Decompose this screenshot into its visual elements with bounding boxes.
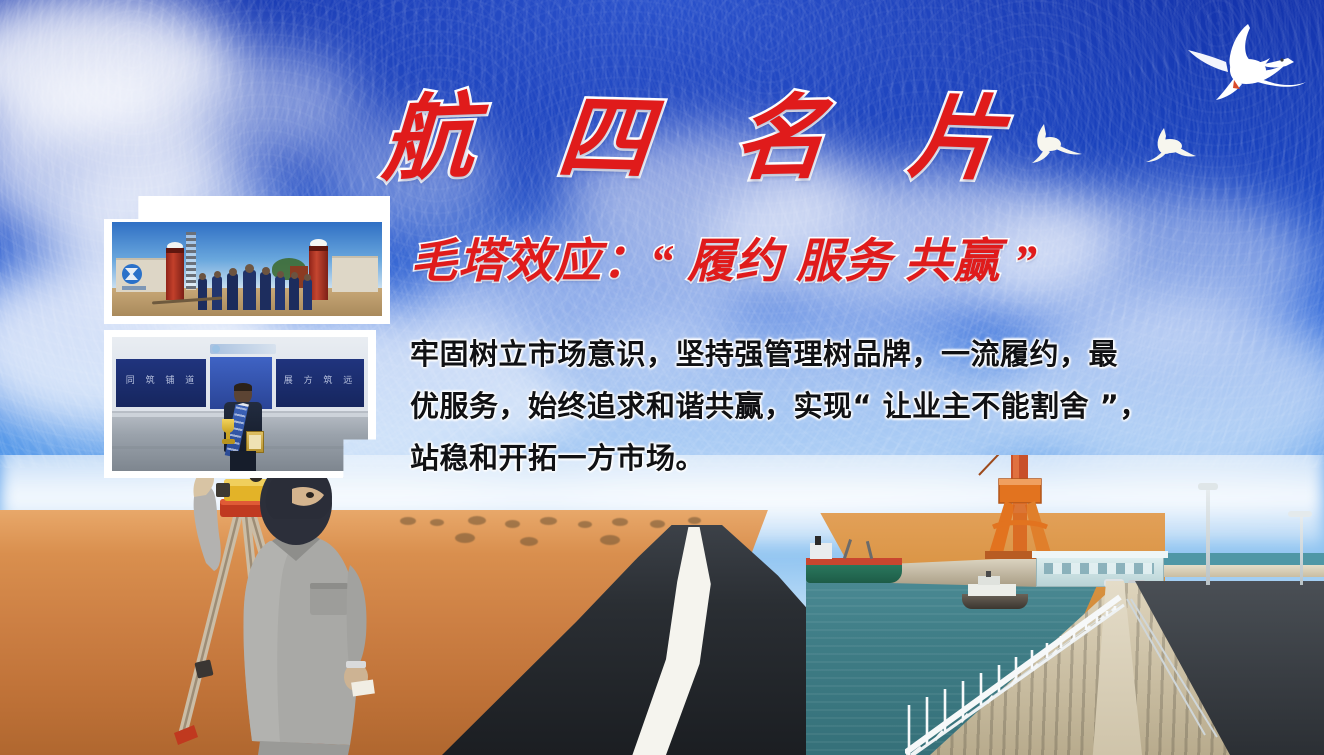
- scrub-bush: [688, 517, 701, 524]
- scrub-bush: [455, 533, 475, 543]
- scrub-bush: [578, 521, 592, 528]
- surveyor-figure: [120, 455, 390, 755]
- landscape-scene: [0, 455, 1324, 755]
- award-ceremony-photo-frame[interactable]: 同 筑 铺 道 展 方 筑 远: [104, 330, 376, 478]
- scrub-bush: [505, 520, 520, 528]
- page-subtitle: 毛塔效应：“ 履约 服务 共赢 ”: [410, 222, 1200, 291]
- title-char-3: 名: [729, 63, 833, 198]
- scrub-bush: [612, 518, 628, 526]
- scrub-bush: [540, 517, 557, 525]
- port-building-roof: [1032, 551, 1168, 558]
- cloud-decoration: [190, 50, 360, 160]
- gate-workers-photo-image: [112, 222, 382, 316]
- title-char-4: 片: [903, 62, 1011, 198]
- cargo-ship: [806, 541, 902, 583]
- street-lamp: [1300, 513, 1303, 585]
- pier-railing: [905, 585, 1235, 755]
- title-char-1: 航: [379, 62, 478, 198]
- dove-small-left-icon: [1026, 118, 1084, 164]
- backdrop-left-text: 同 筑 铺 道: [124, 373, 200, 386]
- street-lamp-head: [1288, 511, 1312, 517]
- scrub-bush: [468, 516, 486, 525]
- scrub-bush: [650, 520, 665, 528]
- port-building-windows: [1044, 563, 1154, 574]
- street-lamp-head: [1198, 483, 1218, 490]
- poster-canvas: 同 筑 铺 道 展 方 筑 远: [0, 0, 1324, 755]
- gate-workers-photo-frame[interactable]: [104, 196, 390, 324]
- street-lamp: [1206, 485, 1210, 585]
- backdrop-right-text: 展 方 筑 远: [282, 373, 358, 386]
- award-ceremony-photo-image: 同 筑 铺 道 展 方 筑 远: [112, 337, 368, 471]
- body-line-3: 站稳和开拓一方市场。: [410, 432, 1215, 484]
- scrub-bush: [400, 517, 416, 525]
- body-line-2: 优服务，始终追求和谐共赢，实现“ 让业主不能割舍 ”，: [410, 380, 1215, 432]
- dove-small-right-icon: [1142, 124, 1198, 166]
- scrub-bush: [600, 535, 620, 545]
- body-copy: 牢固树立市场意识，坚持强管理树品牌，一流履约，最 优服务，始终追求和谐共赢，实现…: [410, 328, 1215, 484]
- scrub-bush: [520, 537, 538, 546]
- dove-large-icon: [1182, 14, 1306, 110]
- title-char-2: 四: [553, 62, 658, 197]
- scrub-bush: [430, 519, 444, 526]
- page-title: 航 四 名 片: [383, 78, 1003, 182]
- body-line-1: 牢固树立市场意识，坚持强管理树品牌，一流履约，最: [410, 328, 1215, 380]
